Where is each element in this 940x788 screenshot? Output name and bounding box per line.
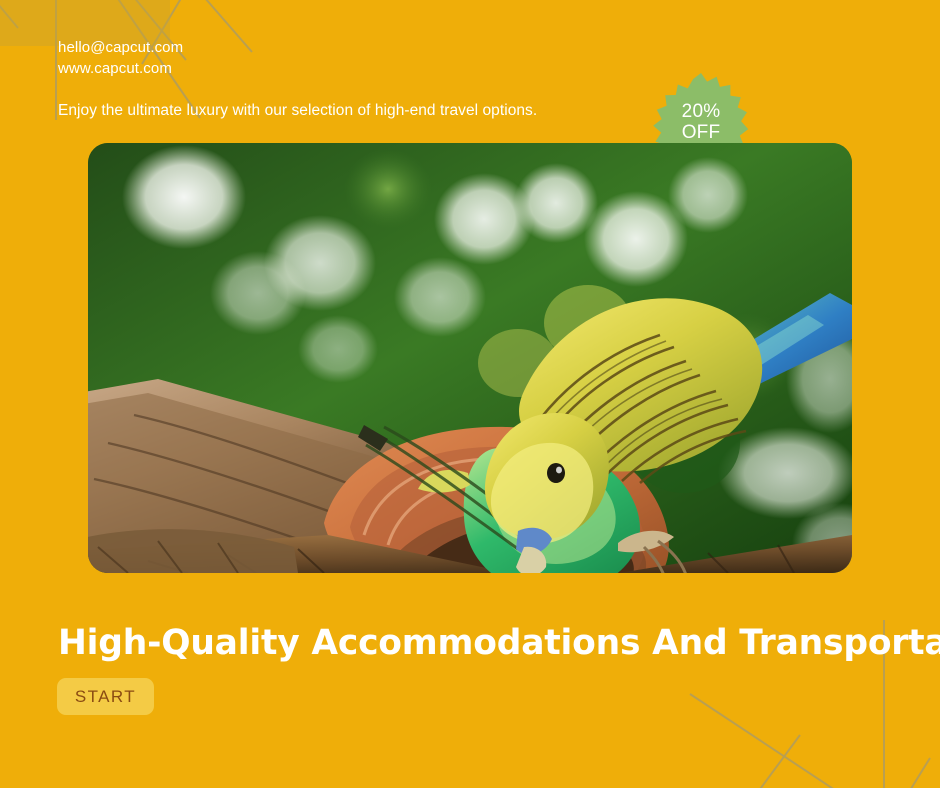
decor-line-tl-5 <box>198 0 252 52</box>
contact-email[interactable]: hello@capcut.com <box>58 38 183 59</box>
budgerigar-photo-illustration <box>88 143 852 573</box>
promo-poster: hello@capcut.com www.capcut.com Enjoy th… <box>0 0 940 788</box>
decor-line-br-2 <box>752 735 800 788</box>
hero-photo <box>88 143 852 573</box>
start-button[interactable]: START <box>57 678 154 715</box>
contact-block: hello@capcut.com www.capcut.com <box>58 38 183 79</box>
contact-website[interactable]: www.capcut.com <box>58 59 183 80</box>
discount-off-label: OFF <box>682 122 721 143</box>
page-title: High-Quality Accommodations And Transpor… <box>58 621 876 665</box>
decor-line-br-1 <box>690 694 850 788</box>
discount-percent: 20% <box>682 101 721 122</box>
tagline: Enjoy the ultimate luxury with our selec… <box>58 102 537 120</box>
decor-line-br-3 <box>904 758 930 788</box>
